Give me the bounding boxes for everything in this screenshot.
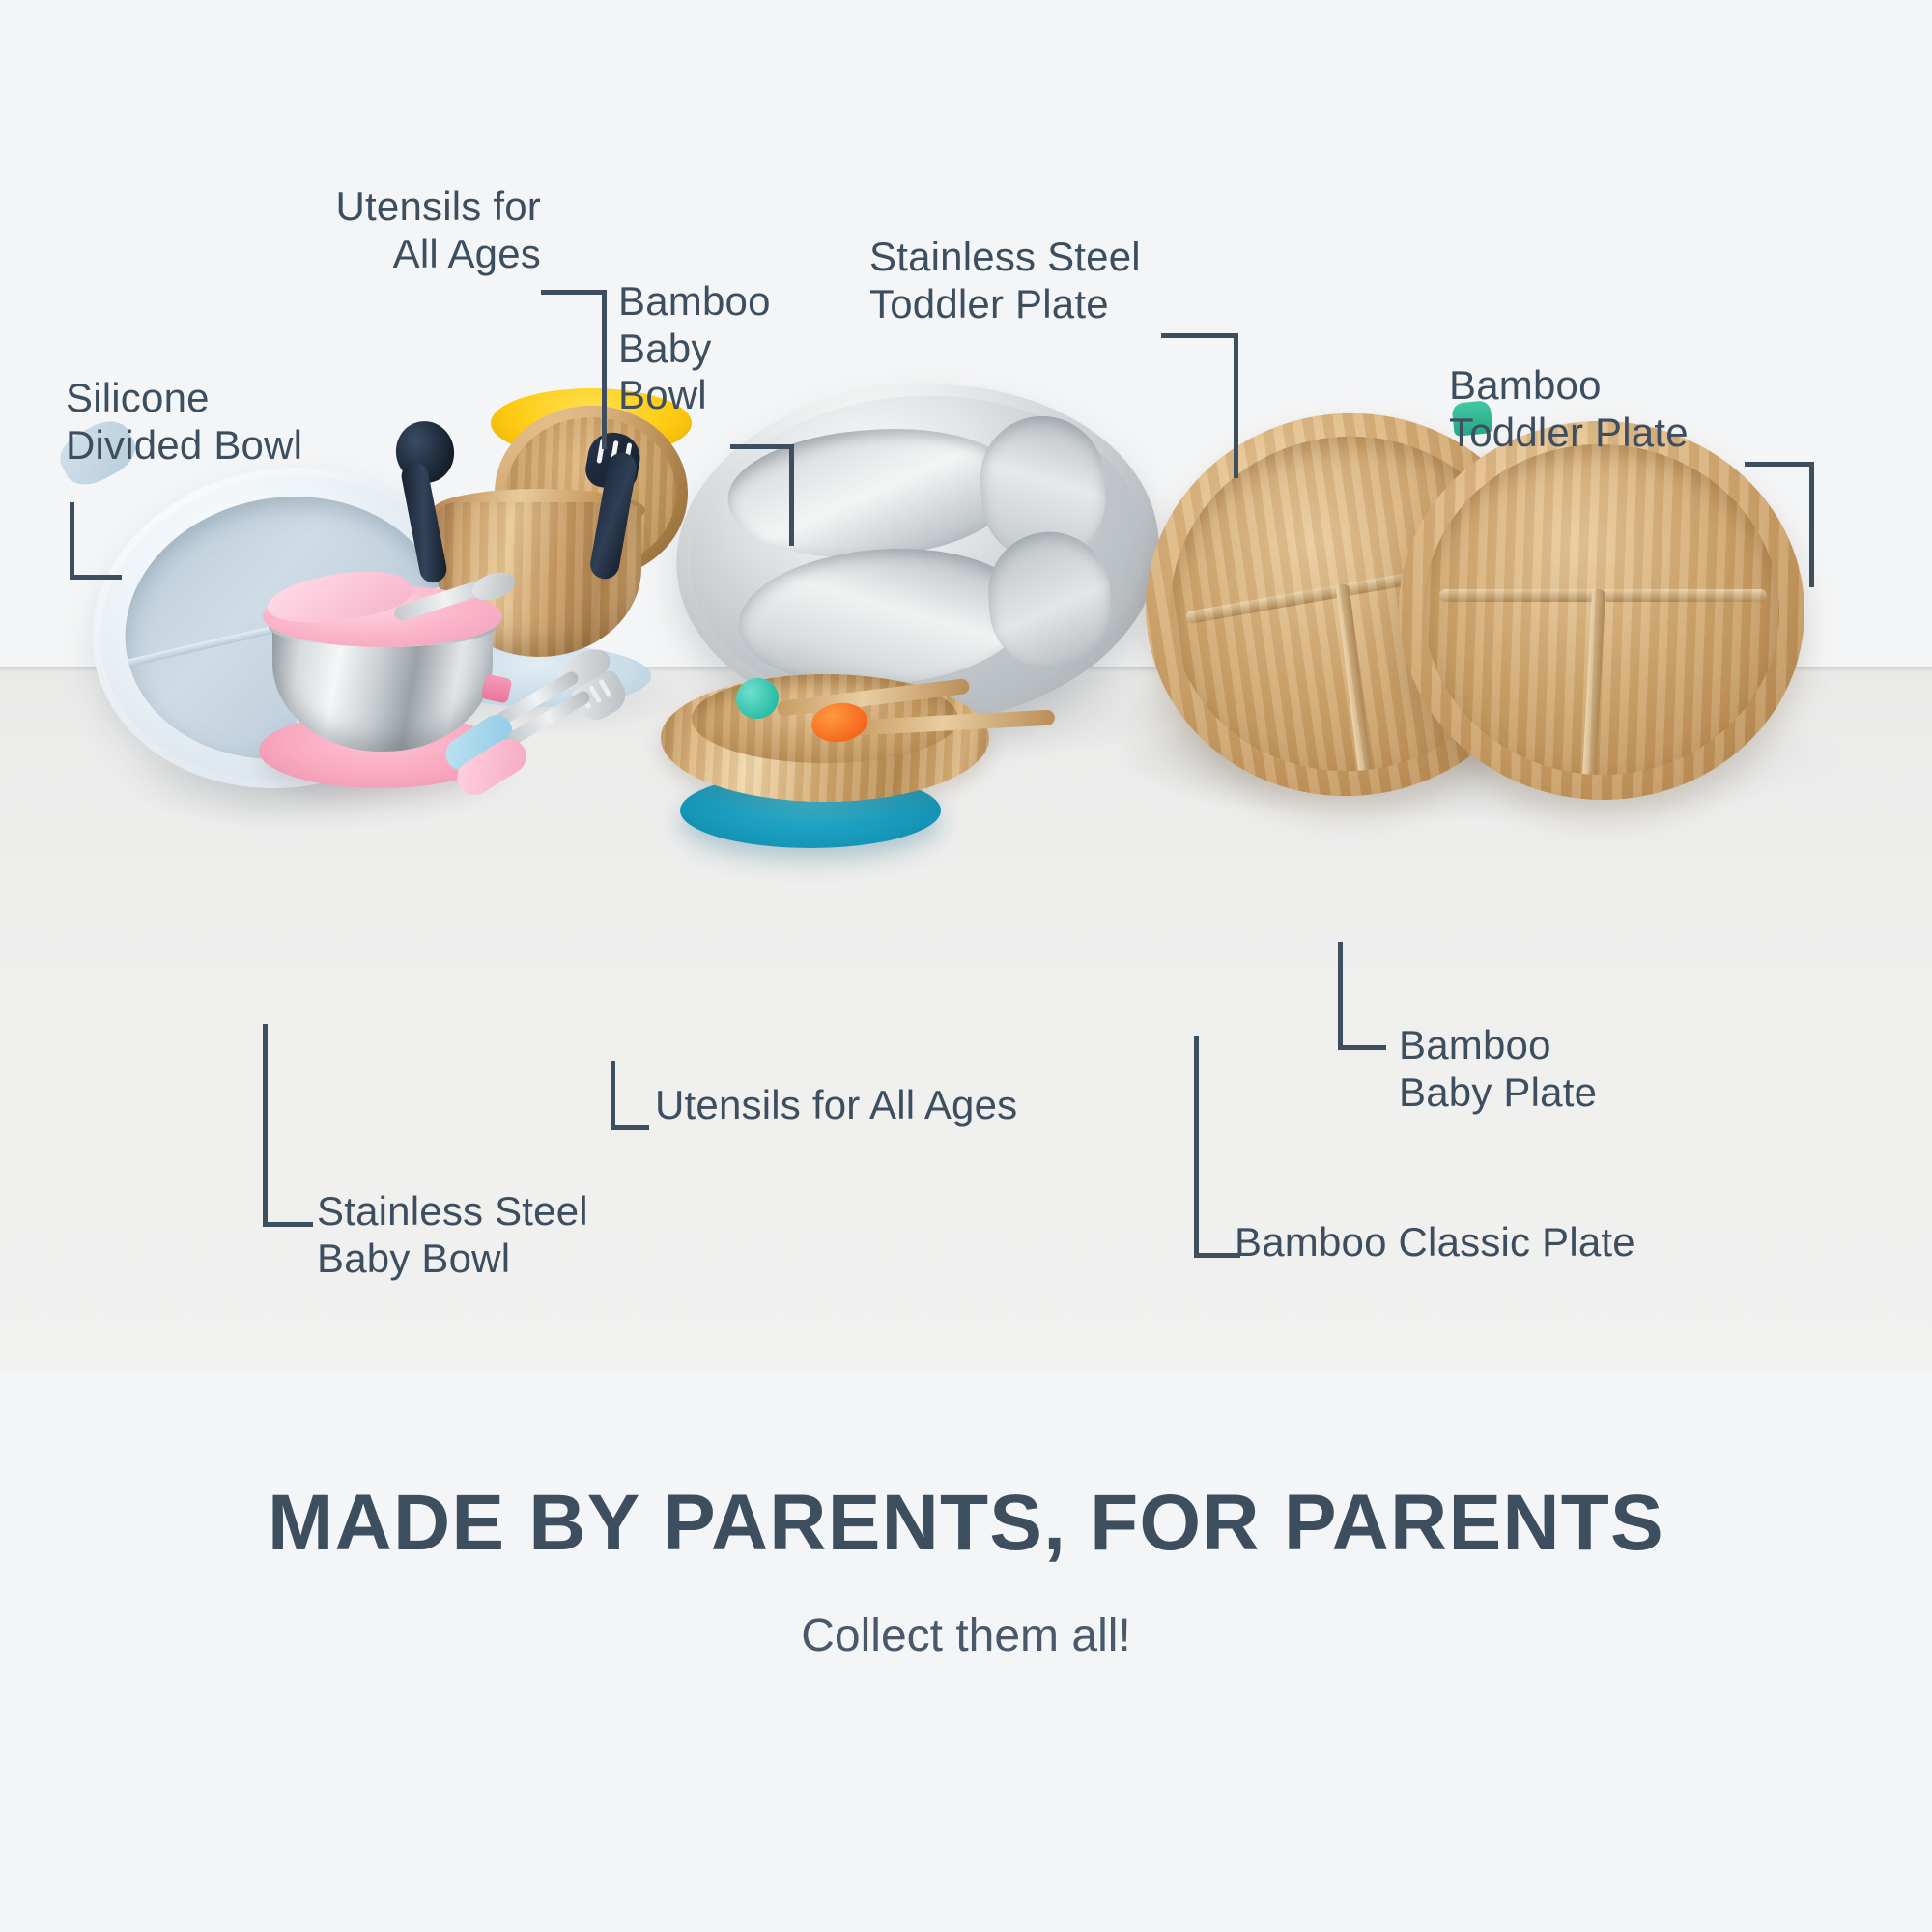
steel-baby-bowl-suction-nub [481,673,513,703]
steel-plate-compartment-top [724,420,1021,566]
footer-headline: MADE BY PARENTS, FOR PARENTS [0,1478,1932,1569]
fork-tine [598,679,611,698]
steel-plate-compartment-bottom [734,539,1033,695]
footer-subtitle: Collect them all! [0,1609,1932,1662]
callout-label-bamboo-baby-bowl: Bamboo Baby Bowl [618,278,840,419]
bamboo-divider-vertical [1335,583,1372,778]
fork-tine [588,685,602,704]
bamboo-divider-horizontal [1439,589,1767,602]
callout-label-utensils-all-ages-bottom: Utensils for All Ages [655,1082,1196,1129]
callout-label-utensils-all-ages-top: Utensils for All Ages [290,184,541,277]
product-photo-scene [0,367,1932,1063]
callout-label-silicone-divided-bowl: Silicone Divided Bowl [66,375,384,469]
callout-label-stainless-steel-baby-bowl: Stainless Steel Baby Bowl [317,1188,732,1282]
infographic-stage: Utensils for All Ages Silicone Divided B… [0,0,1932,1932]
callout-label-stainless-steel-toddler-plate: Stainless Steel Toddler Plate [869,234,1285,327]
bamboo-toddler-plate-product-right [1389,411,1814,810]
callout-label-bamboo-toddler-plate: Bamboo Toddler Plate [1449,362,1893,456]
callout-label-bamboo-classic-plate: Bamboo Classic Plate [1235,1219,1776,1266]
callout-label-bamboo-baby-plate: Bamboo Baby Plate [1399,1022,1747,1116]
bamboo-plate-face-right [1415,436,1787,784]
bamboo-divider-vertical [1582,589,1605,781]
steel-plate-compartment-bottom-right [984,527,1116,672]
footer-block: MADE BY PARENTS, FOR PARENTS Collect the… [0,1478,1932,1662]
